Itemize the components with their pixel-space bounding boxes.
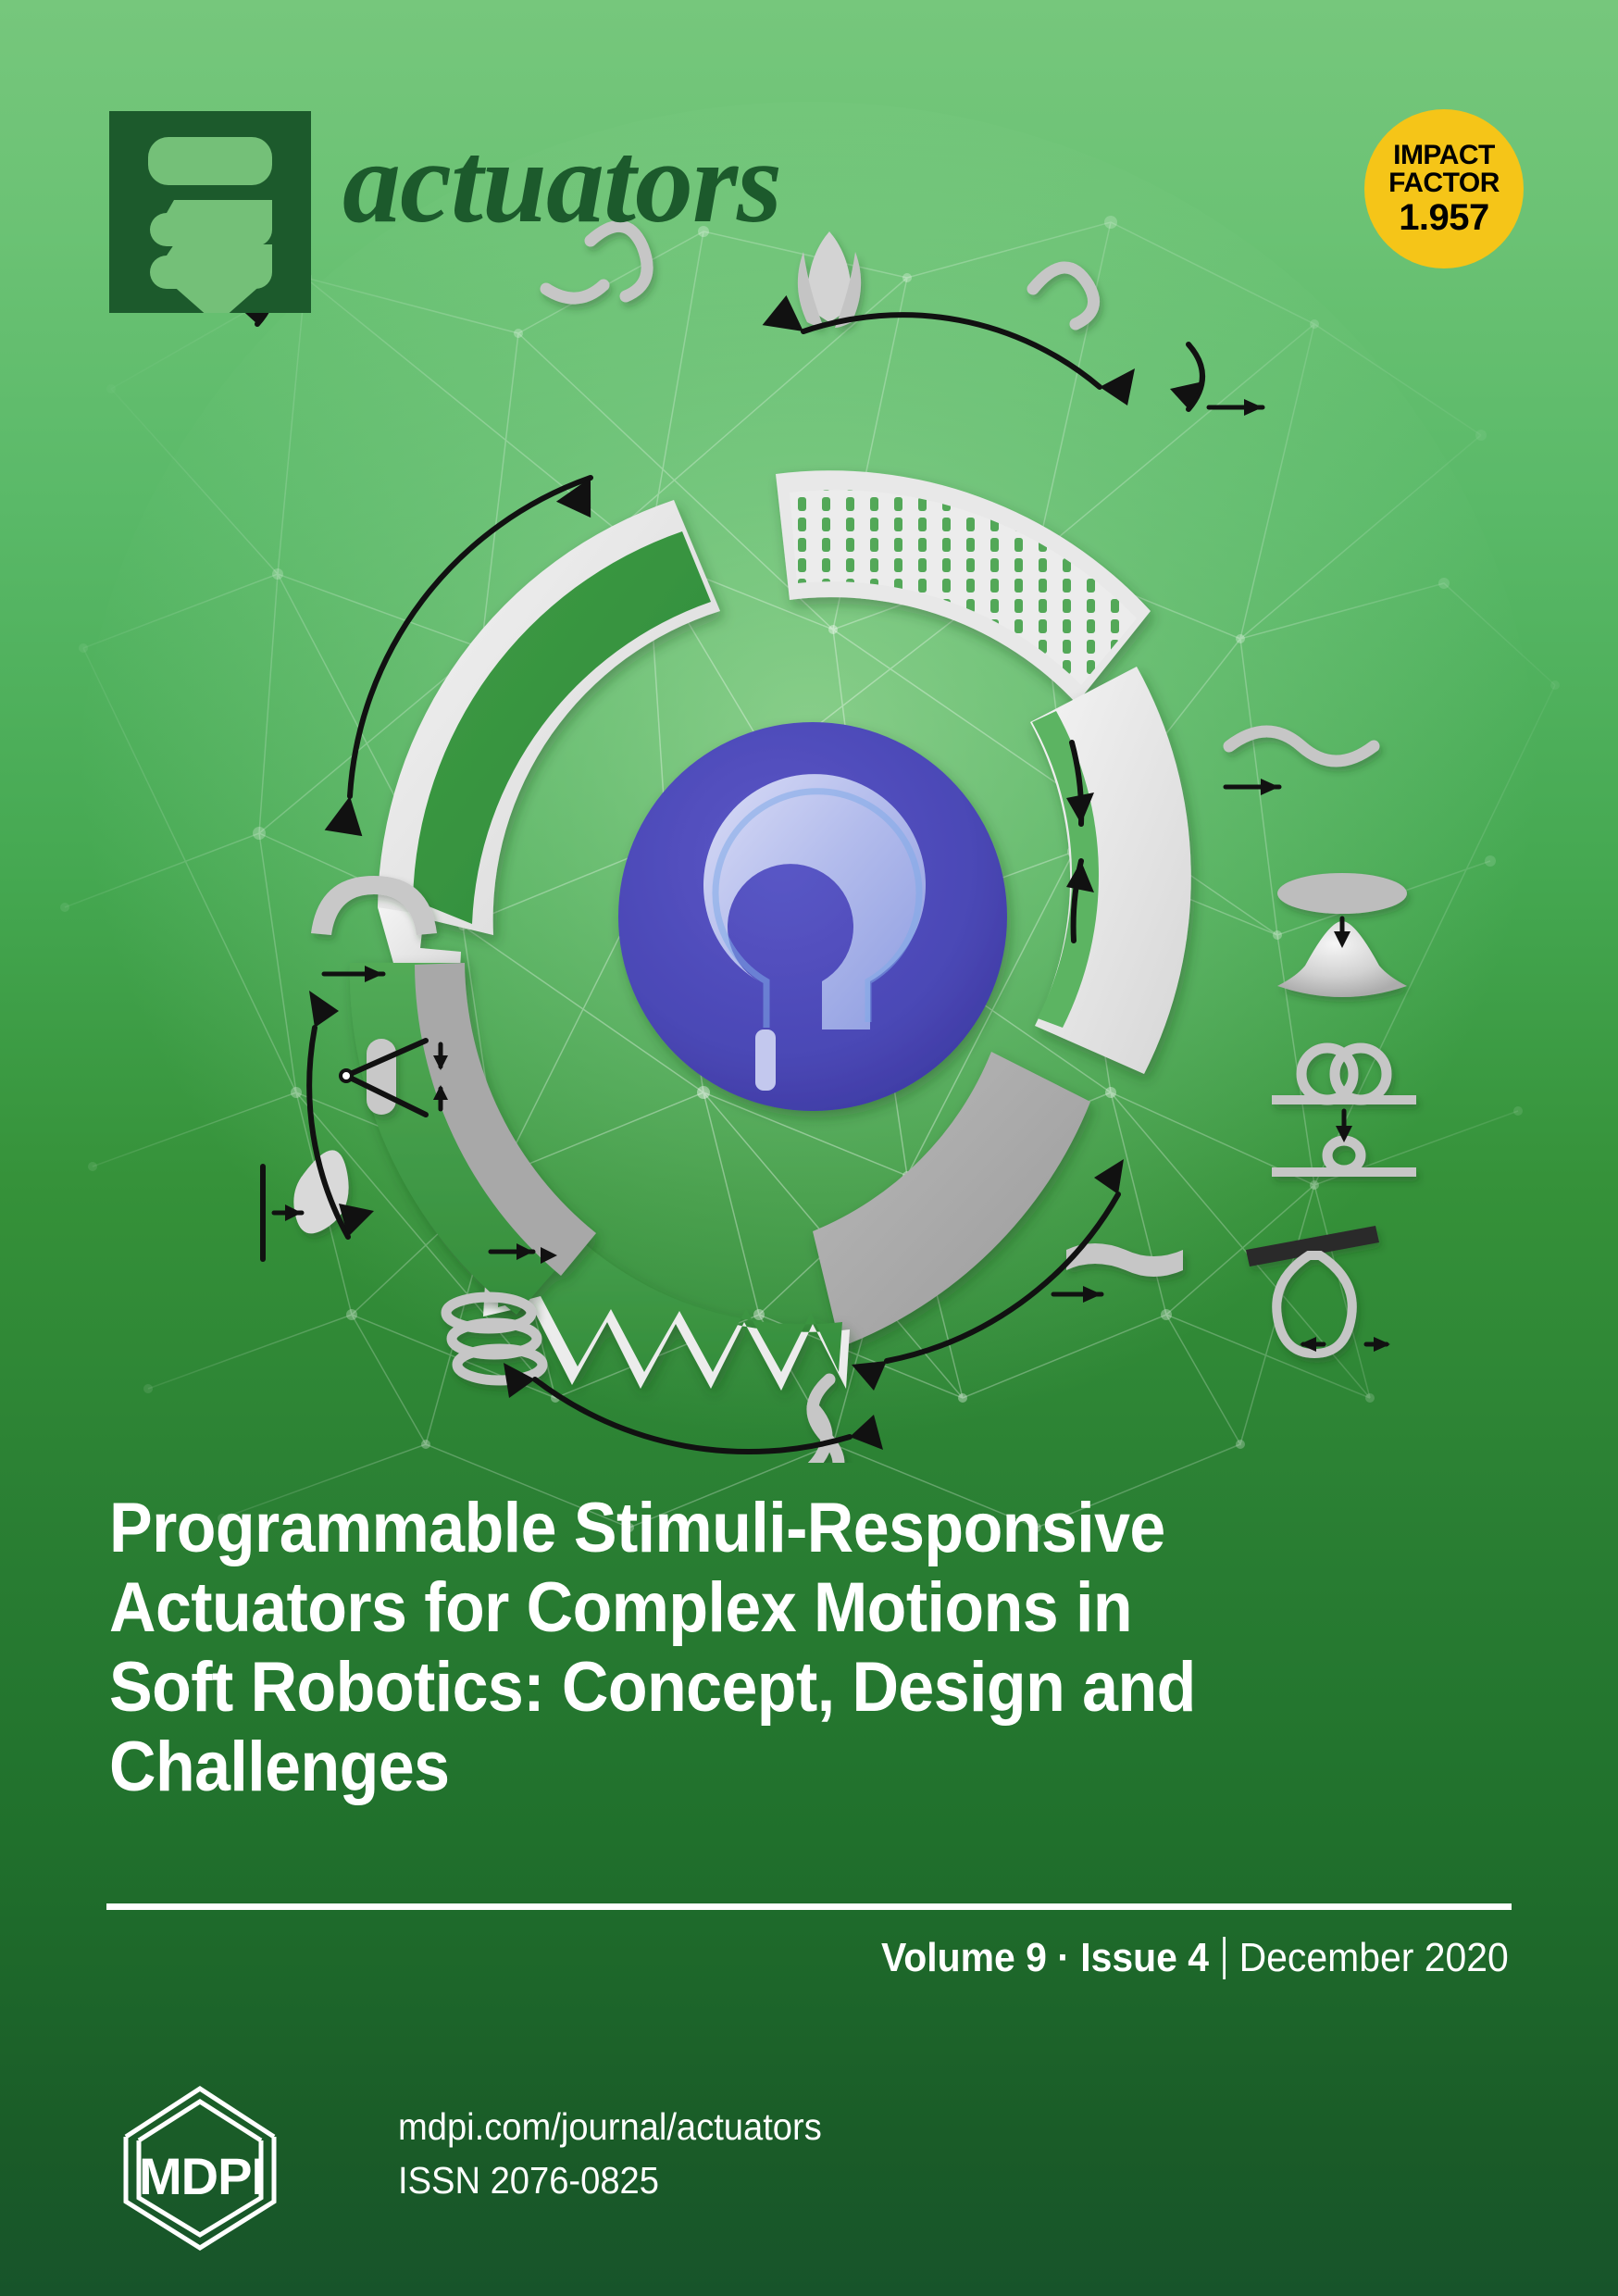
horizontal-divider bbox=[106, 1903, 1512, 1910]
journal-url[interactable]: mdpi.com/journal/actuators bbox=[398, 2100, 822, 2153]
impact-factor-label-line1: IMPACT bbox=[1393, 142, 1495, 170]
volume-separator bbox=[1223, 1937, 1226, 1979]
impact-factor-value: 1.957 bbox=[1399, 199, 1489, 237]
mdpi-logo: MDPI bbox=[118, 2083, 285, 2252]
svg-text:MDPI: MDPI bbox=[139, 2147, 265, 2205]
stretch-bar-icon bbox=[1066, 1243, 1183, 1277]
publisher-info: mdpi.com/journal/actuators ISSN 2076-082… bbox=[398, 2100, 822, 2207]
title-line-3: Soft Robotics: Concept, Design and bbox=[109, 1648, 1361, 1728]
impact-factor-badge: IMPACT FACTOR 1.957 bbox=[1364, 109, 1524, 268]
segment-white-green-bilayer-strip bbox=[1030, 667, 1191, 1074]
title-line-1: Programmable Stimuli-Responsive bbox=[109, 1489, 1361, 1568]
journal-issn: ISSN 2076-0825 bbox=[398, 2153, 822, 2207]
screw-auger-icon bbox=[109, 111, 311, 313]
central-petri-dish bbox=[618, 722, 1007, 1111]
mdpi-hexagon-icon: MDPI bbox=[118, 2083, 285, 2252]
fold-crease-icon bbox=[1246, 1226, 1379, 1354]
journal-logo-mark bbox=[109, 111, 311, 313]
tulip-fold-icon bbox=[798, 231, 861, 328]
pinch-gripper-icon bbox=[367, 1039, 396, 1115]
wave-s-icon bbox=[1229, 731, 1374, 761]
issue-date-text: December 2020 bbox=[1239, 1938, 1509, 1978]
cover-artwork bbox=[72, 148, 1553, 1463]
segment-green-gray-bilayer-strip bbox=[350, 963, 596, 1315]
impact-factor-label-line2: FACTOR bbox=[1388, 169, 1500, 198]
journal-wordmark: actuators bbox=[342, 125, 781, 242]
title-line-4: Challenges bbox=[109, 1728, 1361, 1807]
segment-perforated-kirigami-strip bbox=[776, 470, 1151, 704]
volume-issue-date: Volume 9 · Issue 4 December 2020 bbox=[881, 1937, 1509, 1979]
journal-cover: actuators IMPACT FACTOR 1.957 Programmab… bbox=[0, 0, 1618, 2296]
cover-article-title: Programmable Stimuli-Responsive Actuator… bbox=[109, 1489, 1361, 1807]
volume-issue-text: Volume 9 · Issue 4 bbox=[881, 1938, 1209, 1978]
title-line-2: Actuators for Complex Motions in bbox=[109, 1568, 1361, 1648]
spiral-icon bbox=[1033, 268, 1094, 324]
